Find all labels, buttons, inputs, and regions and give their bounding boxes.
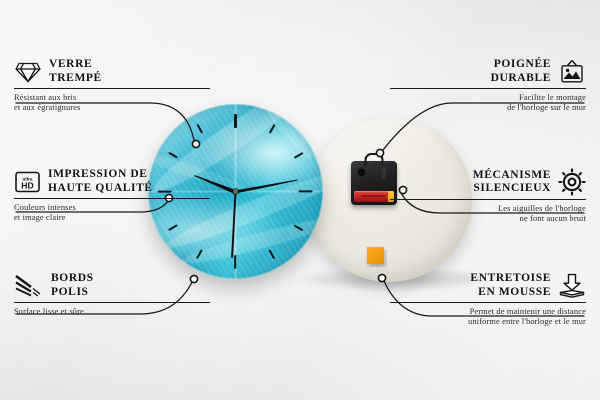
feature-poignee-durable: POIGNÉE DURABLE Facilite le montage de l… — [390, 58, 586, 113]
feature-title-line2: HAUTE QUALITÉ — [48, 182, 153, 196]
feature-header: ultra HD IMPRESSION DE HAUTE QUALITÉ — [14, 168, 210, 195]
feature-desc-line2: ne font aucun bruit — [390, 214, 586, 224]
feature-rule — [14, 198, 210, 199]
connector-dot-entretoise — [378, 274, 385, 281]
feature-desc-line2: et image claire — [14, 213, 210, 223]
feature-title-line1: IMPRESSION DE — [48, 168, 153, 182]
feature-rule — [390, 88, 586, 89]
feature-title: BORDS POLIS — [51, 272, 94, 299]
feature-header: VERRE TREMPÉ — [14, 58, 210, 85]
feature-title-line1: BORDS — [51, 272, 94, 286]
diagonal-lines-icon — [14, 274, 44, 298]
feature-rule — [14, 88, 210, 89]
feature-header: MÉCANISME SILENCIEUX — [390, 168, 586, 196]
feature-title: VERRE TREMPÉ — [49, 58, 102, 85]
connector-dot-poignee — [376, 149, 383, 156]
feature-desc-line1: Les aiguilles de l'horloge — [390, 204, 586, 214]
feature-title-line2: SILENCIEUX — [473, 182, 551, 196]
diamond-icon — [14, 60, 42, 84]
feature-title-line1: VERRE — [49, 58, 102, 72]
feature-title-line1: POIGNÉE — [491, 58, 551, 72]
connector-dot-verre — [192, 140, 199, 147]
feature-rule — [14, 302, 210, 303]
feature-desc-line1: Permet de maintenir une distance — [390, 307, 586, 317]
gear-icon — [558, 168, 586, 196]
feature-desc-line2: et aux égratignures — [14, 103, 210, 113]
feature-title-line1: ENTRETOISE — [470, 272, 551, 286]
feature-desc-line1: Facilite le montage — [390, 93, 586, 103]
feature-desc-line1: Surface lisse et sûre — [14, 307, 210, 317]
feature-title: MÉCANISME SILENCIEUX — [473, 169, 551, 196]
feature-desc-line2: de l'horloge sur le mur — [390, 103, 586, 113]
feature-verre-trempe: VERRE TREMPÉ Résistant aux bris et aux é… — [14, 58, 210, 113]
feature-title: IMPRESSION DE HAUTE QUALITÉ — [48, 168, 153, 195]
feature-desc-line1: Résistant aux bris — [14, 93, 210, 103]
feature-rule — [390, 199, 586, 200]
svg-text:HD: HD — [21, 180, 33, 190]
feature-title-line2: DURABLE — [491, 72, 551, 86]
feature-header: POIGNÉE DURABLE — [390, 58, 586, 85]
feature-desc-line1: Couleurs intenses — [14, 203, 210, 213]
feature-title: POIGNÉE DURABLE — [491, 58, 551, 85]
feature-title-line2: POLIS — [51, 286, 94, 300]
feature-title-line2: TREMPÉ — [49, 72, 102, 86]
feature-header: BORDS POLIS — [14, 272, 210, 299]
arrow-down-pad-icon — [558, 273, 586, 299]
feature-title-line2: EN MOUSSE — [470, 286, 551, 300]
infographic-stage: VERRE TREMPÉ Résistant aux bris et aux é… — [0, 0, 600, 400]
hanging-picture-icon — [558, 59, 586, 85]
feature-impression-haute-qualite: ultra HD IMPRESSION DE HAUTE QUALITÉ Cou… — [14, 168, 210, 223]
feature-title: ENTRETOISE EN MOUSSE — [470, 272, 551, 299]
feature-header: ENTRETOISE EN MOUSSE — [390, 272, 586, 299]
feature-bords-polis: BORDS POLIS Surface lisse et sûre — [14, 272, 210, 317]
feature-rule — [390, 302, 586, 303]
feature-desc-line2: uniforme entre l'horloge et le mur — [390, 317, 586, 327]
feature-mecanisme-silencieux: MÉCANISME SILENCIEUX Les aigu — [390, 168, 586, 224]
feature-entretoise-en-mousse: ENTRETOISE EN MOUSSE Permet de maintenir… — [390, 272, 586, 327]
ultra-hd-icon: ultra HD — [14, 170, 41, 194]
feature-title-line1: MÉCANISME — [473, 169, 551, 183]
